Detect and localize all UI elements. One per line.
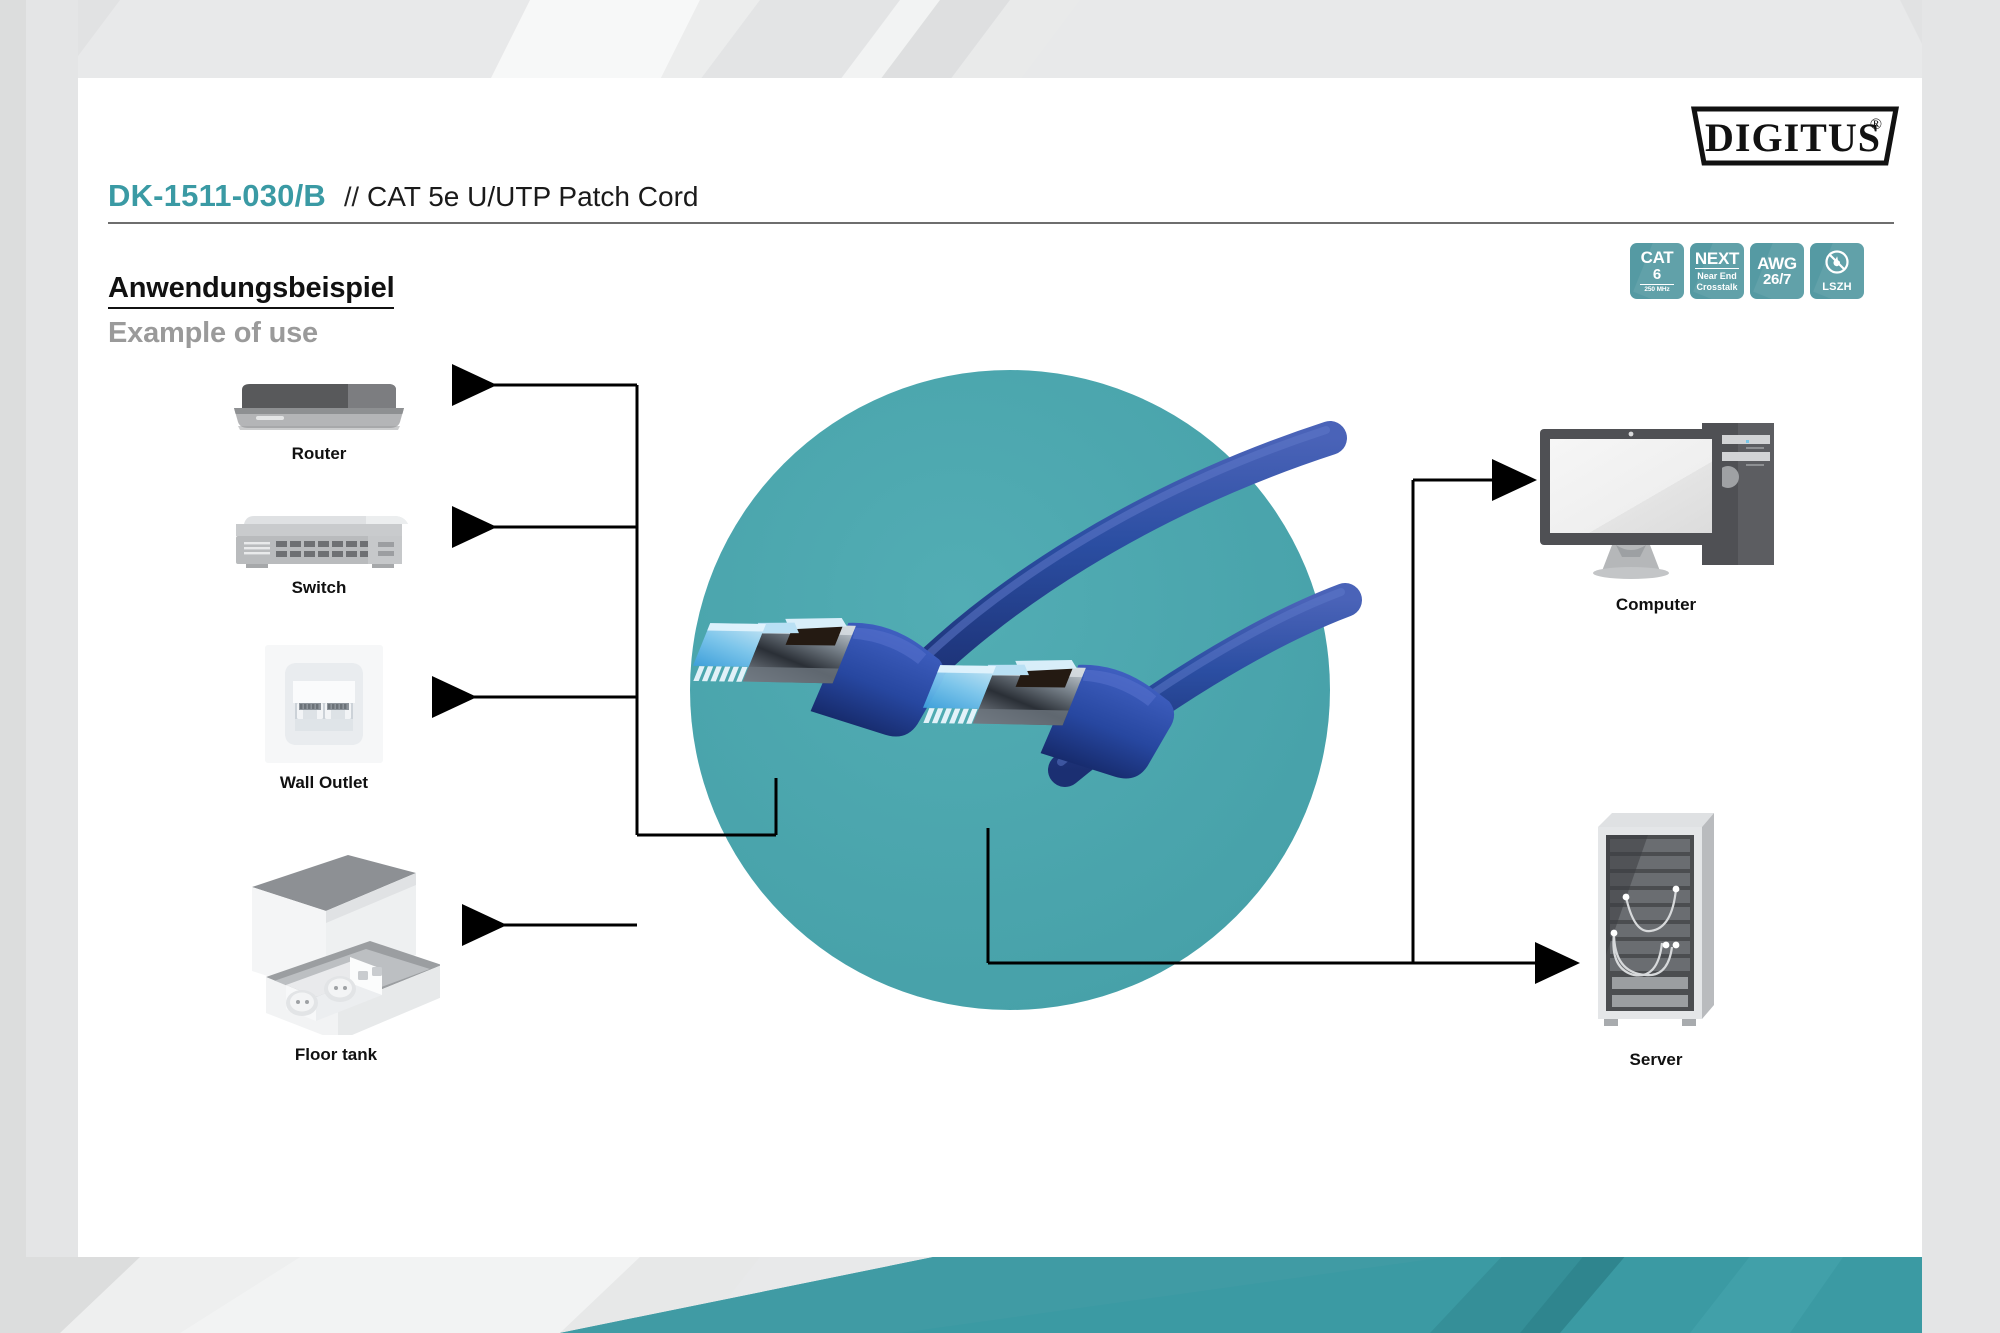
header-divider [108, 222, 1894, 224]
cat-badge-main: CAT [1641, 249, 1674, 266]
product-sku: DK-1511-030/B [108, 178, 326, 214]
next-badge-line2: Crosstalk [1696, 282, 1737, 292]
title-separator: // [344, 182, 359, 213]
router-label: Router [228, 444, 410, 464]
next-badge-main: NEXT [1695, 250, 1739, 269]
switch-label: Switch [228, 578, 410, 598]
server-icon [1590, 805, 1722, 1040]
next-badge: NEXT Near End Crosstalk [1690, 243, 1744, 299]
logo-registered-mark: ® [1870, 116, 1882, 133]
next-badge-line1: Near End [1697, 271, 1737, 281]
product-title-row: DK-1511-030/B // CAT 5e U/UTP Patch Cord [108, 178, 1898, 214]
server-label: Server [1530, 1050, 1782, 1070]
node-wall-outlet: Wall Outlet [265, 645, 383, 768]
no-flame-icon [1824, 249, 1850, 279]
router-icon [228, 423, 410, 440]
awg-badge-sub: 26/7 [1763, 272, 1791, 287]
cat-badge: CAT 6 250 MHz [1630, 243, 1684, 299]
cat-badge-rule [1640, 284, 1674, 285]
lszh-badge: LSZH [1810, 243, 1864, 299]
node-computer: Computer [1530, 415, 1782, 590]
product-name: CAT 5e U/UTP Patch Cord [367, 181, 698, 213]
cat-badge-tiny: 250 MHz [1644, 287, 1669, 294]
wall-outlet-label: Wall Outlet [231, 773, 417, 793]
floor-tank-label: Floor tank [214, 1045, 458, 1065]
node-server: Server [1590, 805, 1722, 1045]
switch-icon [228, 508, 410, 570]
node-floor-tank: Floor tank [230, 845, 440, 1040]
cat-badge-sub: 6 [1653, 267, 1661, 282]
awg-badge: AWG 26/7 [1750, 243, 1804, 299]
digitus-logo: DIGITUS ® [1690, 105, 1900, 165]
node-router: Router [228, 372, 410, 441]
wall-outlet-icon [265, 645, 383, 763]
section-heading-en: Example of use [108, 317, 318, 350]
awg-badge-main: AWG [1757, 255, 1797, 272]
section-heading-de: Anwendungsbeispiel [108, 272, 394, 309]
floor-tank-icon [230, 845, 440, 1035]
spec-badge-group: CAT 6 250 MHz NEXT Near End Crosstalk AW… [1630, 243, 1864, 299]
computer-label: Computer [1530, 595, 1782, 615]
node-switch: Switch [228, 508, 410, 575]
lszh-badge-label: LSZH [1822, 282, 1852, 293]
computer-icon [1530, 415, 1782, 585]
logo-wordmark: DIGITUS [1705, 115, 1881, 160]
